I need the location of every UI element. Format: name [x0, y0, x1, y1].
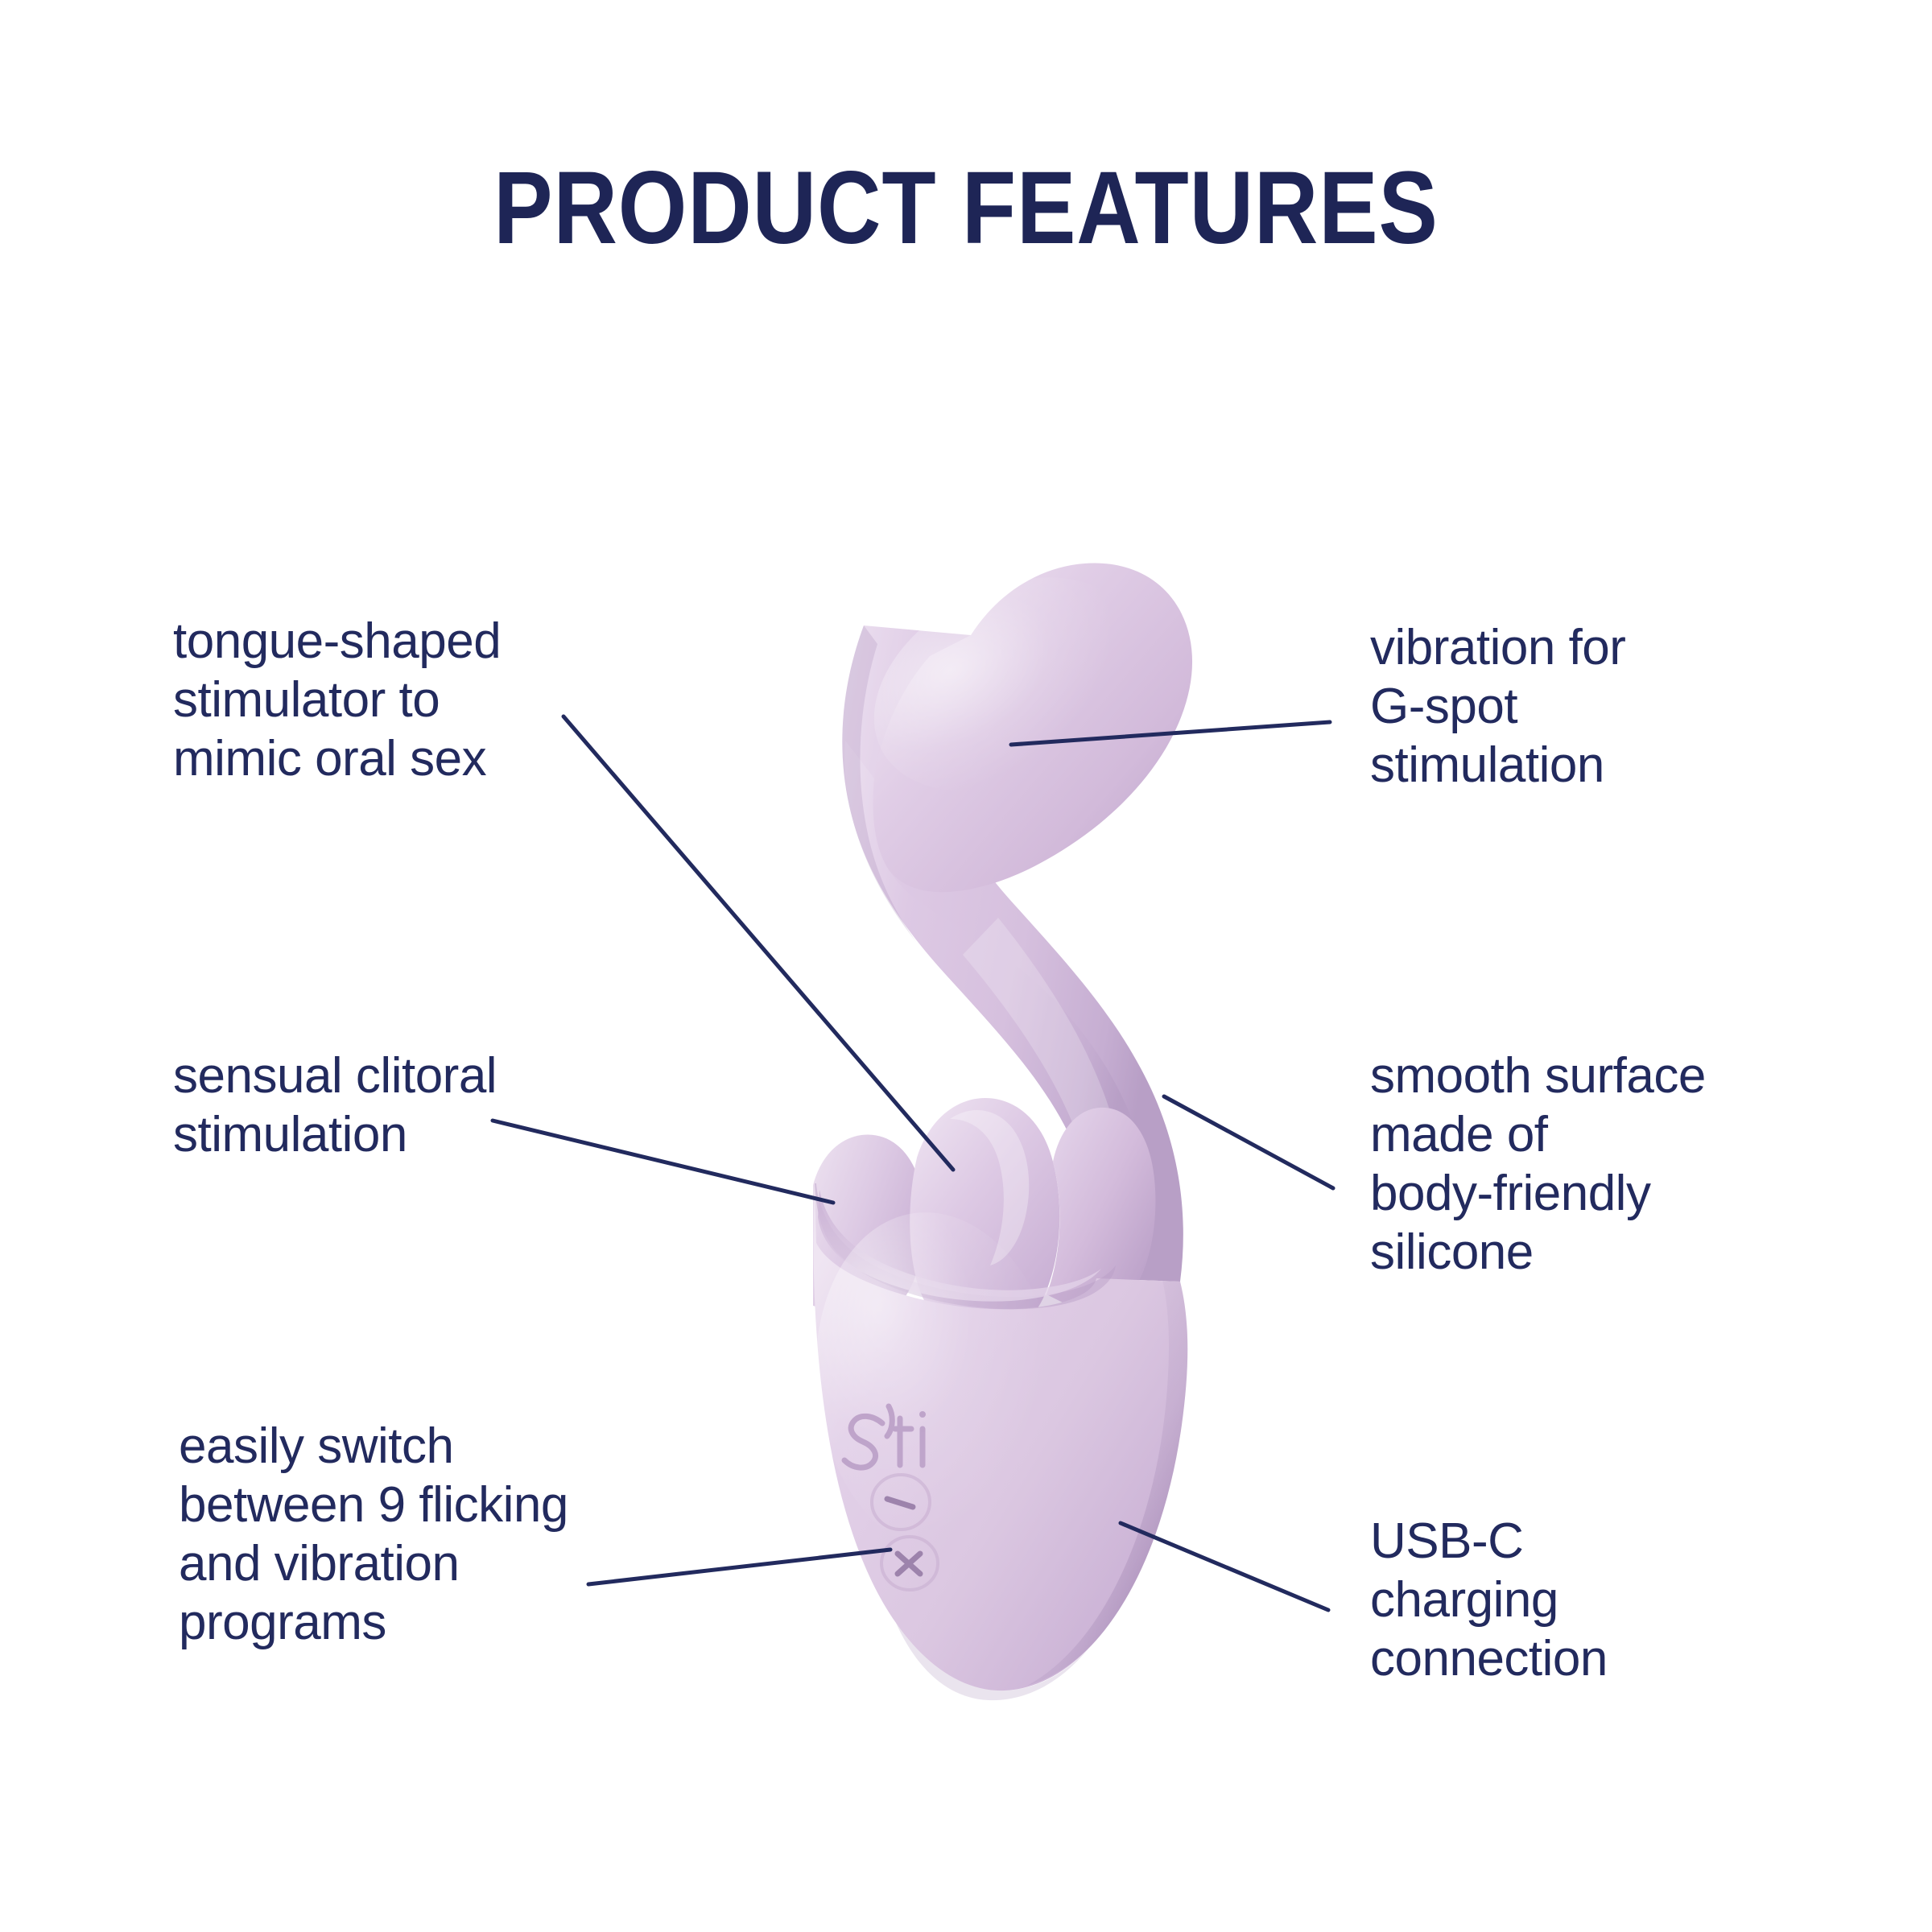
feature-label-sensual-clitoral-stimulation: sensual clitoral stimulation: [173, 1046, 688, 1164]
feature-label-flicking-vibration-programs: easily switch between 9 flicking and vib…: [179, 1417, 742, 1653]
feature-label-tongue-shaped-stimulator: tongue-shaped stimulator to mimic oral s…: [173, 612, 688, 788]
feature-label-g-spot-vibration: vibration for G-spot stimulation: [1370, 618, 1901, 795]
product-features-infographic: PRODUCT FEATURES: [0, 0, 1932, 1932]
feature-label-body-friendly-silicone: smooth surface made of body-friendly sil…: [1370, 1046, 1901, 1282]
feature-label-usb-c-charging: USB-C charging connection: [1370, 1512, 1901, 1688]
